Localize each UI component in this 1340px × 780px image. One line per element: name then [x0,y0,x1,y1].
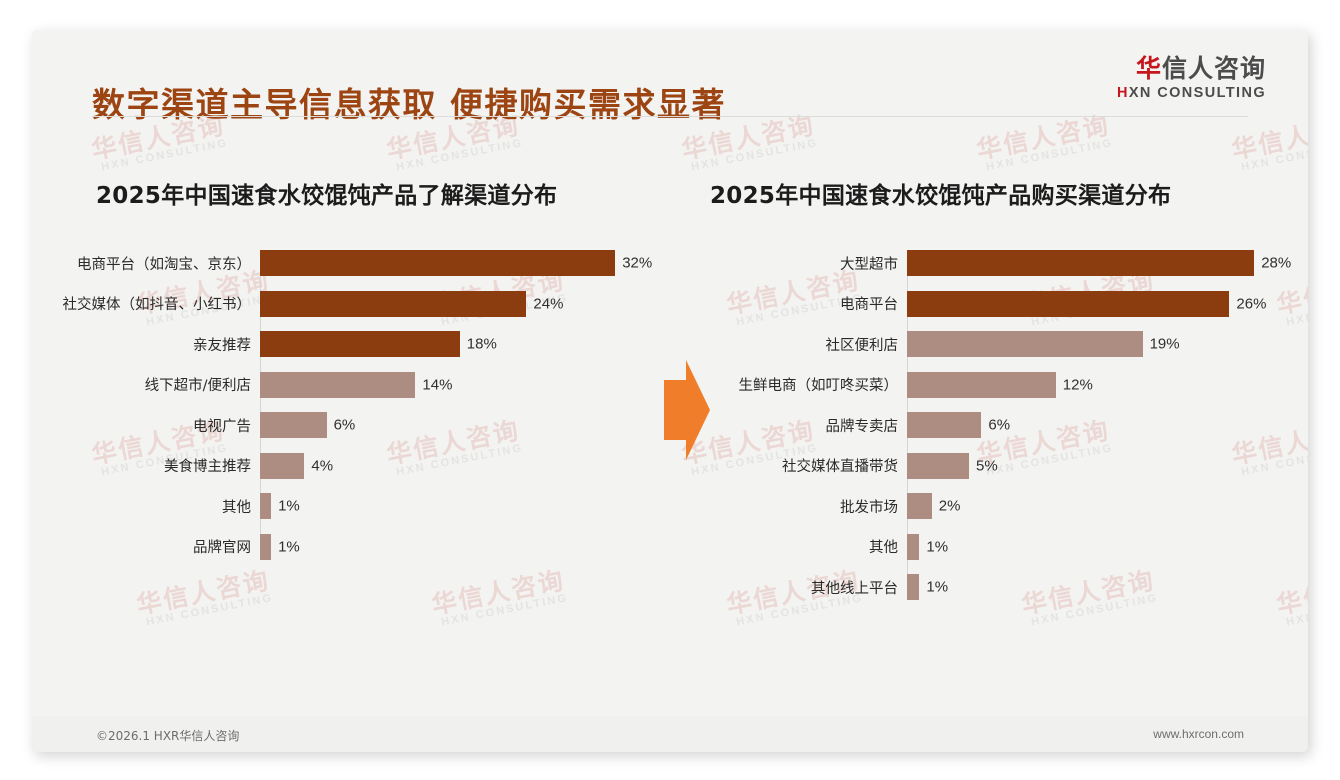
bar-row: 其他1% [692,534,1292,560]
bar-value-label: 4% [311,457,333,474]
bar-track: 26% [907,291,1292,317]
bar-value-label: 6% [334,417,356,434]
bar-row: 生鲜电商（如叮咚买菜）12% [692,372,1292,398]
bar-track: 2% [907,493,1292,519]
bar [907,372,1056,398]
bar-row: 电商平台（如淘宝、京东）32% [60,250,680,276]
slide-card: 华信人咨询HXN CONSULTING华信人咨询HXN CONSULTING华信… [32,30,1308,752]
logo-cn-gray: 信人咨询 [1162,54,1266,83]
bar-track: 1% [260,534,680,560]
bar-track: 6% [260,412,680,438]
chart-panel-awareness: 2025年中国速食水饺馄饨产品了解渠道分布 电商平台（如淘宝、京东）32%社交媒… [60,128,680,668]
bar-value-label: 1% [278,538,300,555]
bar [260,412,327,438]
bar-category-label: 品牌官网 [60,536,260,557]
bar-track: 14% [260,372,680,398]
bar-category-label: 线下超市/便利店 [60,374,260,395]
bar-value-label: 18% [467,336,497,353]
page-title: 数字渠道主导信息获取 便捷购买需求显著 [92,78,726,126]
bar-category-label: 品牌专卖店 [692,415,907,436]
bar [260,331,460,357]
bar-track: 4% [260,453,680,479]
bar-track: 1% [260,493,680,519]
brand-logo: 华信人咨询 HXN CONSULTING [1117,56,1266,101]
bar-value-label: 14% [422,376,452,393]
bar-category-label: 大型超市 [692,253,907,274]
bar-category-label: 其他 [60,496,260,517]
bar [907,331,1143,357]
bar-track: 18% [260,331,680,357]
bar-row: 电商平台26% [692,291,1292,317]
bar-category-label: 其他线上平台 [692,577,907,598]
bar-value-label: 1% [278,498,300,515]
bar [260,291,526,317]
bar-track: 24% [260,291,680,317]
bar-row: 美食博主推荐4% [60,453,680,479]
bar-value-label: 32% [622,255,652,272]
bar-category-label: 亲友推荐 [60,334,260,355]
bar-category-label: 社区便利店 [692,334,907,355]
bar-value-label: 1% [926,579,948,596]
bar-row: 其他1% [60,493,680,519]
bar-track: 32% [260,250,680,276]
logo-en-gray: XN CONSULTING [1129,85,1266,101]
bar [260,453,304,479]
bar-track: 19% [907,331,1292,357]
bar-track: 1% [907,534,1292,560]
bar [907,412,981,438]
logo-en-red: H [1117,85,1129,101]
bar [260,372,415,398]
bar-category-label: 电视广告 [60,415,260,436]
bar-row: 亲友推荐18% [60,331,680,357]
bar-row: 社交媒体直播带货5% [692,453,1292,479]
bar-value-label: 28% [1261,255,1291,272]
bar-track: 1% [907,574,1292,600]
bar-track: 5% [907,453,1292,479]
bar-track: 28% [907,250,1292,276]
chart-title-right: 2025年中国速食水饺馄饨产品购买渠道分布 [710,176,1292,210]
bar [907,534,919,560]
bar-track: 6% [907,412,1292,438]
bar [260,493,271,519]
right-arrow-icon [660,360,712,460]
title-divider [92,116,1248,117]
bar [907,453,969,479]
chart-panel-purchase: 2025年中国速食水饺馄饨产品购买渠道分布 大型超市28%电商平台26%社区便利… [692,128,1292,668]
bar [907,574,919,600]
bar-value-label: 26% [1236,295,1266,312]
bar-value-label: 19% [1150,336,1180,353]
bar-value-label: 2% [939,498,961,515]
bar-row: 电视广告6% [60,412,680,438]
website-link[interactable]: www.hxrcon.com [1153,727,1244,741]
bar-value-label: 12% [1063,376,1093,393]
logo-english: HXN CONSULTING [1117,86,1266,101]
bar-value-label: 6% [988,417,1010,434]
bar-value-label: 1% [926,538,948,555]
bar-value-label: 24% [533,295,563,312]
bar-track: 12% [907,372,1292,398]
logo-chinese: 华信人咨询 [1117,56,1266,81]
bar-row: 线下超市/便利店14% [60,372,680,398]
slide-header: 数字渠道主导信息获取 便捷购买需求显著 华信人咨询 HXN CONSULTING [32,30,1308,128]
bar-category-label: 电商平台（如淘宝、京东） [60,253,260,274]
bar-row: 批发市场2% [692,493,1292,519]
bar-category-label: 美食博主推荐 [60,455,260,476]
bar-row: 品牌专卖店6% [692,412,1292,438]
logo-cn-red: 华 [1136,54,1162,83]
bar-category-label: 生鲜电商（如叮咚买菜） [692,374,907,395]
bar-category-label: 社交媒体（如抖音、小红书） [60,293,260,314]
footer-bar: ©2026.1 HXR华信人咨询 www.hxrcon.com [32,716,1308,752]
bar-chart-left: 电商平台（如淘宝、京东）32%社交媒体（如抖音、小红书）24%亲友推荐18%线下… [60,250,680,560]
chart-title-left: 2025年中国速食水饺馄饨产品了解渠道分布 [96,176,680,210]
bar-category-label: 社交媒体直播带货 [692,455,907,476]
bar [260,534,271,560]
bar-category-label: 电商平台 [692,293,907,314]
bar-value-label: 5% [976,457,998,474]
bar [260,250,615,276]
bar-category-label: 其他 [692,536,907,557]
bar-category-label: 批发市场 [692,496,907,517]
bar-row: 社交媒体（如抖音、小红书）24% [60,291,680,317]
bar-row: 品牌官网1% [60,534,680,560]
copyright-text: ©2026.1 HXR华信人咨询 [96,727,239,744]
bar-row: 其他线上平台1% [692,574,1292,600]
bar-row: 大型超市28% [692,250,1292,276]
bar [907,493,932,519]
bar [907,291,1229,317]
bar-chart-right: 大型超市28%电商平台26%社区便利店19%生鲜电商（如叮咚买菜）12%品牌专卖… [692,250,1292,600]
bar [907,250,1254,276]
bar-row: 社区便利店19% [692,331,1292,357]
